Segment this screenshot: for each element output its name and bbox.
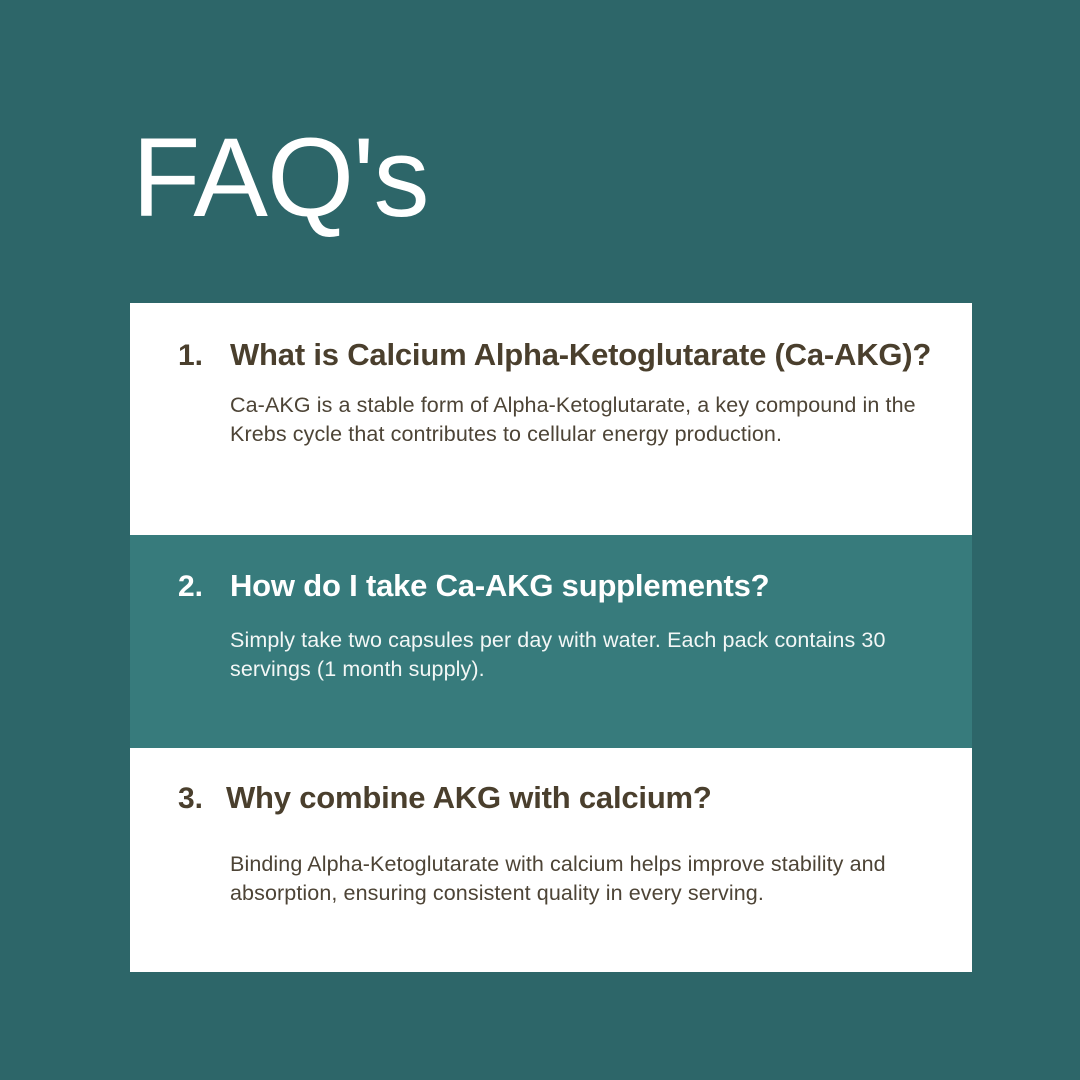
faq-question: What is Calcium Alpha-Ketoglutarate (Ca-… <box>230 337 938 373</box>
faq-list: 1. What is Calcium Alpha-Ketoglutarate (… <box>130 303 972 972</box>
faq-item-2[interactable]: 2. How do I take Ca-AKG supplements? Sim… <box>130 535 972 748</box>
faq-question: How do I take Ca-AKG supplements? <box>230 568 938 604</box>
faq-answer: Binding Alpha-Ketoglutarate with calcium… <box>230 850 938 908</box>
faq-number: 2. <box>178 568 230 604</box>
faq-number: 3. <box>178 780 226 816</box>
faq-answer: Ca-AKG is a stable form of Alpha-Ketoglu… <box>230 391 938 449</box>
faq-page: FAQ's 1. What is Calcium Alpha-Ketogluta… <box>0 0 1080 1080</box>
faq-question: Why combine AKG with calcium? <box>226 780 938 816</box>
faq-item-1[interactable]: 1. What is Calcium Alpha-Ketoglutarate (… <box>130 303 972 535</box>
faq-question-row: 3. Why combine AKG with calcium? <box>178 780 938 816</box>
faq-answer: Simply take two capsules per day with wa… <box>230 626 938 684</box>
faq-item-3[interactable]: 3. Why combine AKG with calcium? Binding… <box>130 748 972 972</box>
faq-question-row: 2. How do I take Ca-AKG supplements? <box>178 568 938 604</box>
page-title: FAQ's <box>132 122 428 234</box>
faq-number: 1. <box>178 337 230 373</box>
faq-question-row: 1. What is Calcium Alpha-Ketoglutarate (… <box>178 337 938 373</box>
